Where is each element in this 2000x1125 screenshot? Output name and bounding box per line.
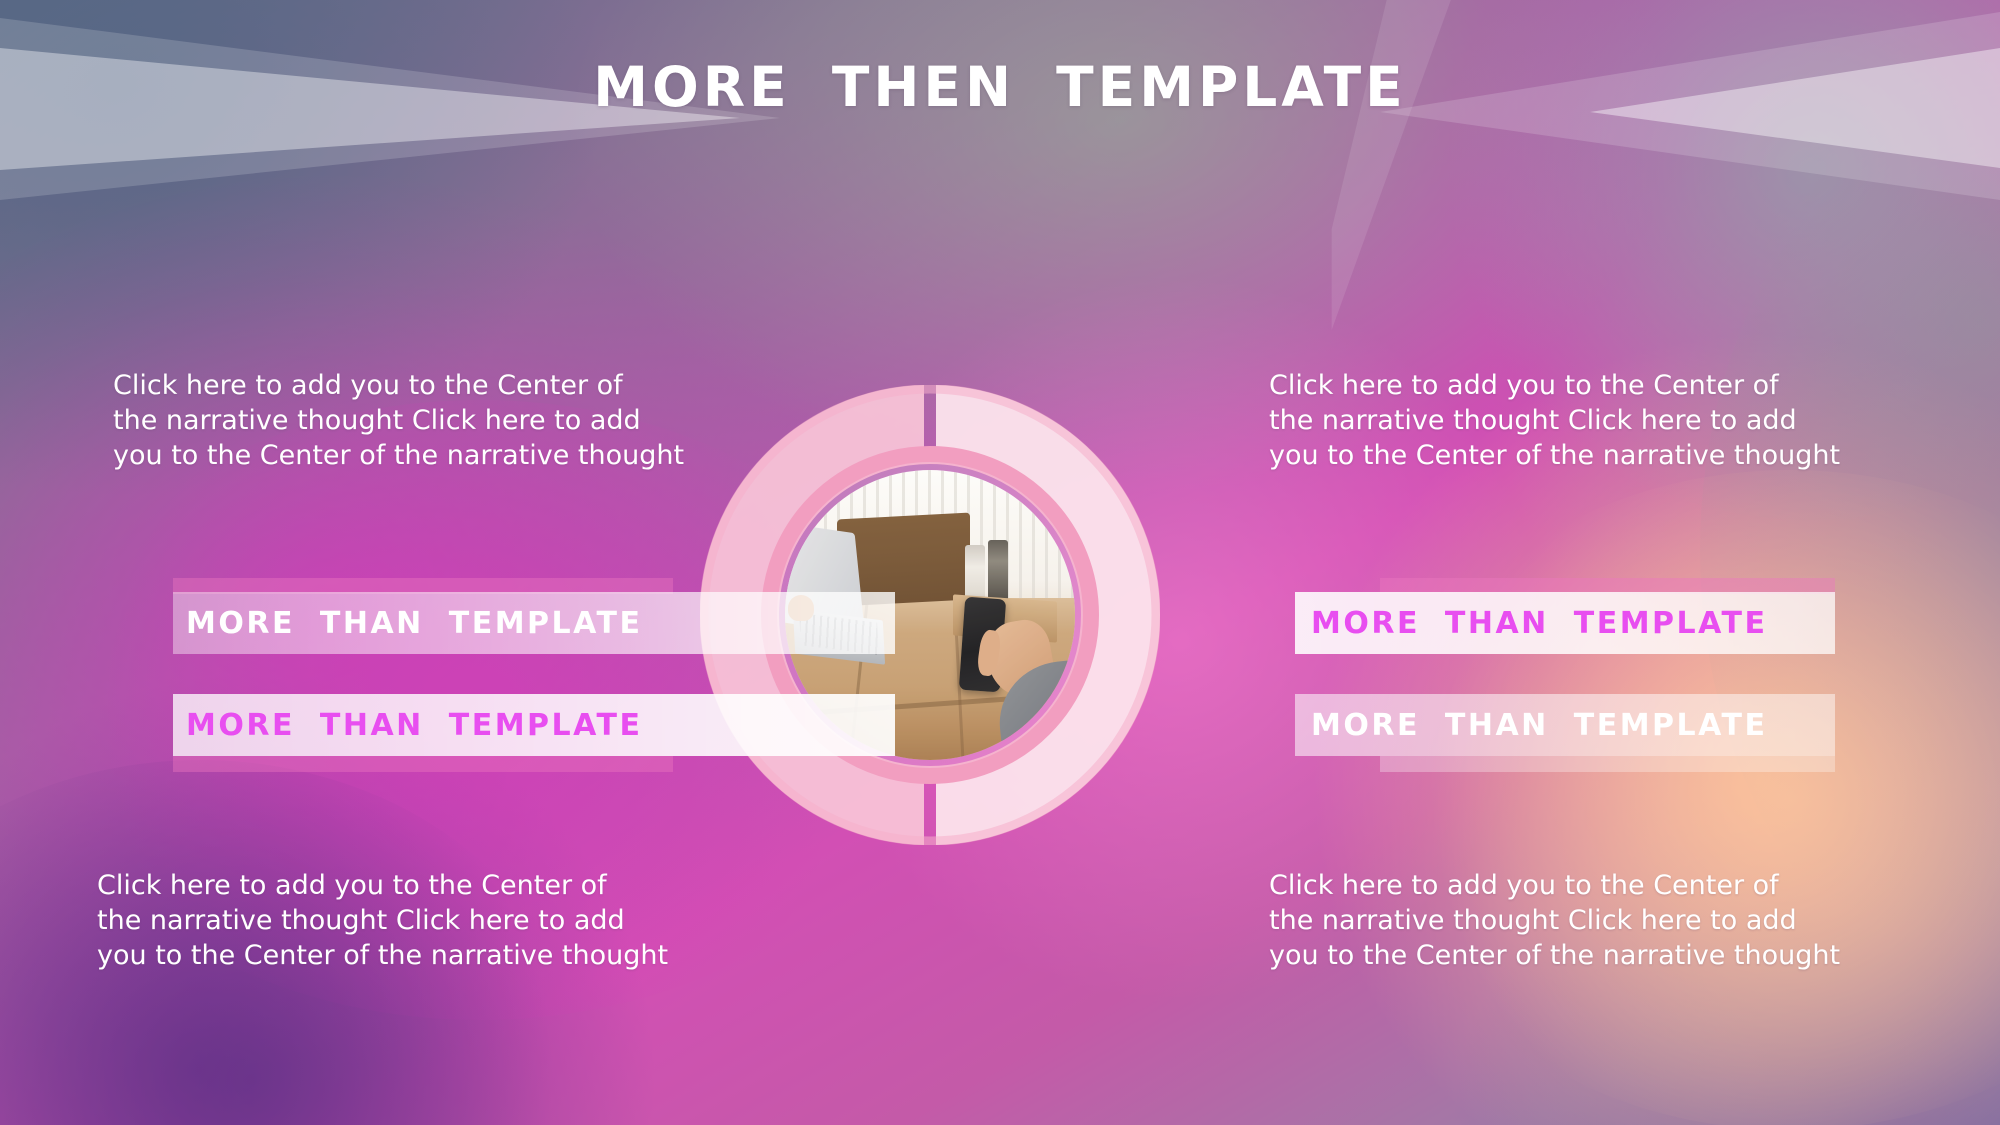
banner-left-bottom[interactable]: MORE THAN TEMPLATE	[173, 694, 895, 756]
banner-right-top[interactable]: MORE THAN TEMPLATE	[1295, 592, 1835, 654]
banner-left-top-label: MORE THAN TEMPLATE	[186, 606, 643, 641]
banner-right-bottom[interactable]: MORE THAN TEMPLATE	[1295, 694, 1835, 756]
banner-stub-left-bottom	[173, 756, 673, 772]
text-block-top-left[interactable]: Click here to add you to the Center of t…	[113, 368, 773, 473]
banner-right-bottom-label: MORE THAN TEMPLATE	[1311, 708, 1768, 743]
text-block-bottom-left[interactable]: Click here to add you to the Center of t…	[97, 868, 757, 973]
banner-left-top[interactable]: MORE THAN TEMPLATE	[173, 592, 895, 654]
slide-canvas: MORE THEN TEMPLATE	[0, 0, 2000, 1125]
text-block-top-right[interactable]: Click here to add you to the Center of t…	[1269, 368, 1929, 473]
banner-stub-right-bottom	[1380, 756, 1835, 772]
banner-left-bottom-label: MORE THAN TEMPLATE	[186, 708, 643, 743]
background-bloom-gray	[1700, 100, 2000, 1000]
banner-right-top-label: MORE THAN TEMPLATE	[1311, 606, 1768, 641]
diagonal-band	[1330, 0, 1590, 330]
text-block-bottom-right[interactable]: Click here to add you to the Center of t…	[1269, 868, 1929, 973]
background-bloom-peach	[1380, 470, 2000, 1125]
page-title: MORE THEN TEMPLATE	[0, 55, 2000, 119]
